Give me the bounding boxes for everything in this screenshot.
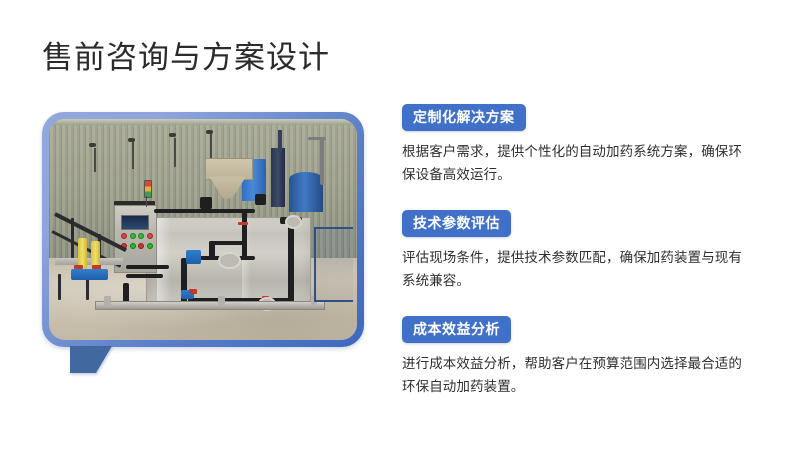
blue-actuator-valve-icon: [186, 250, 201, 263]
green-button-icon: [147, 243, 153, 249]
wall-bolt-icon: [94, 148, 96, 172]
tank-highlight: [157, 218, 172, 304]
feature-description: 进行成本效益分析，帮助客户在预算范围内选择最合适的环保自动加药装置。: [402, 352, 754, 398]
green-indicator-icon: [138, 233, 144, 239]
vertical-drop-pipe: [242, 212, 248, 258]
horizontal-grey-pipe: [308, 137, 326, 141]
feature-item: 成本效益分析 进行成本效益分析，帮助客户在预算范围内选择最合适的环保自动加药装置…: [402, 316, 758, 398]
equipment-base-frame: [95, 301, 325, 310]
red-indicator-icon: [147, 233, 153, 239]
feature-badge-custom-solution[interactable]: 定制化解决方案: [402, 104, 526, 131]
feature-badge-technical-evaluation[interactable]: 技术参数评估: [402, 210, 511, 237]
hopper-drive-motor: [255, 194, 266, 205]
feature-list: 定制化解决方案 根据客户需求，提供个性化的自动加药系统方案，确保环保设备高效运行…: [402, 104, 758, 398]
green-button-icon: [130, 243, 136, 249]
equipment-photo: [49, 119, 357, 340]
handrail-post: [71, 218, 74, 258]
cable-bundle: [126, 265, 169, 269]
cabinet-button-row: [121, 233, 153, 239]
feature-item: 定制化解决方案 根据客户需求，提供个性化的自动加药系统方案，确保环保设备高效运行…: [402, 104, 758, 186]
speech-bubble-tail: [70, 346, 112, 373]
dark-column-equipment: [271, 148, 285, 208]
wall-bolt-head-icon: [89, 143, 96, 147]
wall-bolt-icon: [210, 134, 212, 158]
feature-description: 评估现场条件，提供技术参数匹配，确保加药装置与现有系统兼容。: [402, 246, 754, 292]
wall-bolt-head-icon: [206, 130, 213, 134]
red-button-icon: [138, 243, 144, 249]
hmi-touch-screen: [121, 215, 149, 229]
blue-storage-tank: [289, 172, 323, 212]
feature-badge-cost-benefit-analysis[interactable]: 成本效益分析: [402, 316, 511, 343]
red-valve-handle-icon: [92, 265, 101, 269]
hopper-motor: [200, 197, 212, 208]
wall-trim: [49, 119, 357, 125]
blue-pump-skid: [71, 269, 108, 280]
base-leg: [218, 296, 224, 307]
cable-bundle: [126, 274, 163, 278]
red-valve-handle-icon: [189, 289, 197, 293]
green-indicator-icon: [130, 233, 136, 239]
top-feed-pipe: [154, 209, 256, 214]
branch-pipe-horizontal: [209, 241, 243, 245]
vertical-grey-pipe: [320, 137, 324, 186]
wall-bolt-icon: [132, 142, 134, 169]
side-safety-railing: [314, 227, 353, 302]
red-indicator-icon: [121, 233, 127, 239]
page-title: 售前咨询与方案设计: [42, 38, 330, 78]
wall-bolt-icon: [174, 138, 176, 167]
photo-speech-bubble: [42, 112, 364, 347]
red-valve-handle-icon: [74, 265, 83, 269]
stair-platform: [55, 258, 123, 265]
feature-item: 技术参数评估 评估现场条件，提供技术参数匹配，确保加药装置与现有系统兼容。: [402, 210, 758, 292]
feature-description: 根据客户需求，提供个性化的自动加药系统方案，确保环保设备高效运行。: [402, 140, 754, 186]
red-valve-handle-icon: [238, 222, 247, 226]
exhaust-stack-icon: [278, 130, 283, 152]
hand-wheel-valve-icon: [218, 252, 240, 269]
stair-leg: [58, 274, 61, 301]
photo-scene: [49, 119, 357, 340]
signal-tower-pole: [146, 196, 147, 207]
wall-bolt-head-icon: [128, 138, 135, 142]
feed-hopper-body: [205, 158, 253, 180]
base-leg: [104, 296, 110, 307]
riser-pipe: [288, 221, 294, 303]
